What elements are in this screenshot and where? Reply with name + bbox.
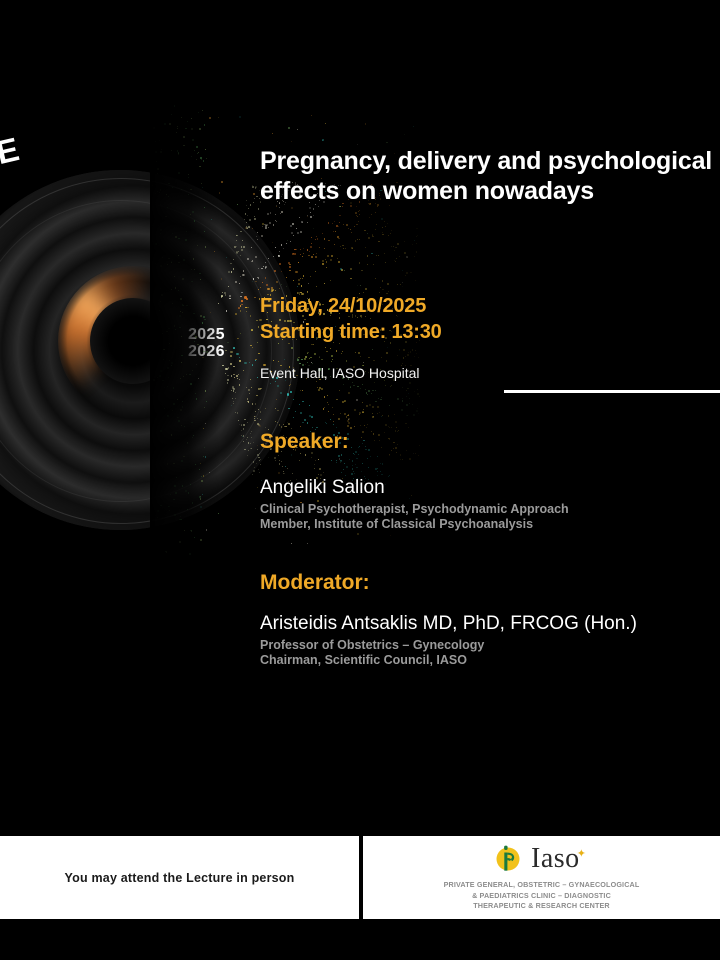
moderator-credentials: Professor of Obstetrics – Gynecology Cha… <box>260 638 720 668</box>
speaker-credential-2: Member, Institute of Classical Psychoana… <box>260 517 720 532</box>
iaso-tagline-line-2: & PAEDIATRICS CLINIC – DIAGNOSTIC <box>363 891 720 902</box>
year-start: 2025 <box>188 326 225 343</box>
page-title: Pregnancy, delivery and psychological ef… <box>260 146 720 206</box>
arc-text-label: SCIENTIFIC LECTURE <box>0 129 26 503</box>
speaker-name: Angeliki Salion <box>260 476 720 499</box>
iaso-tagline-line-3: THERAPEUTIC & RESEARCH CENTER <box>363 901 720 912</box>
moderator-role-label: Moderator: <box>260 571 720 595</box>
event-venue: Event Hall, IASO Hospital <box>260 364 720 382</box>
logo-panel: Iaso✦ PRIVATE GENERAL, OBSTETRIC – GYNAE… <box>363 836 720 919</box>
speaker-role-label: Speaker: <box>260 430 720 454</box>
moderator-credential-1: Professor of Obstetrics – Gynecology <box>260 638 720 653</box>
attendance-note: You may attend the Lecture in person <box>0 871 359 885</box>
logo-star-icon: ✦ <box>577 848 587 860</box>
iaso-wordmark-text: Iaso <box>531 843 580 874</box>
iaso-logo-mark-icon <box>494 842 524 879</box>
speaker-credential-1: Clinical Psychotherapist, Psychodynamic … <box>260 502 720 517</box>
event-date: Friday, 24/10/2025 <box>260 293 720 319</box>
year-end: 2026 <box>188 343 225 360</box>
divider-rule <box>504 390 720 393</box>
speaker-credentials: Clinical Psychotherapist, Psychodynamic … <box>260 502 720 532</box>
season-years: 2025 2026 <box>188 326 225 360</box>
moderator-credential-2: Chairman, Scientific Council, IASO <box>260 653 720 668</box>
iaso-tagline: PRIVATE GENERAL, OBSTETRIC – GYNAECOLOGI… <box>363 880 720 912</box>
iaso-logo: Iaso✦ <box>363 842 720 879</box>
iaso-tagline-line-1: PRIVATE GENERAL, OBSTETRIC – GYNAECOLOGI… <box>363 880 720 891</box>
iaso-wordmark: Iaso✦ <box>531 845 589 878</box>
event-time: Starting time: 13:30 <box>260 319 720 345</box>
event-datetime: Friday, 24/10/2025 Starting time: 13:30 <box>260 293 720 345</box>
moderator-name: Aristeidis Antsaklis MD, PhD, FRCOG (Hon… <box>260 612 720 635</box>
lecture-poster: SCIENTIFIC LECTURE 2025 2026 Pregnancy, … <box>0 0 720 960</box>
lens-artwork: SCIENTIFIC LECTURE 2025 2026 <box>0 0 420 836</box>
bottom-black-bar <box>0 919 720 960</box>
footer: You may attend the Lecture in person Ias… <box>0 836 720 919</box>
attendance-panel: You may attend the Lecture in person <box>0 836 359 919</box>
